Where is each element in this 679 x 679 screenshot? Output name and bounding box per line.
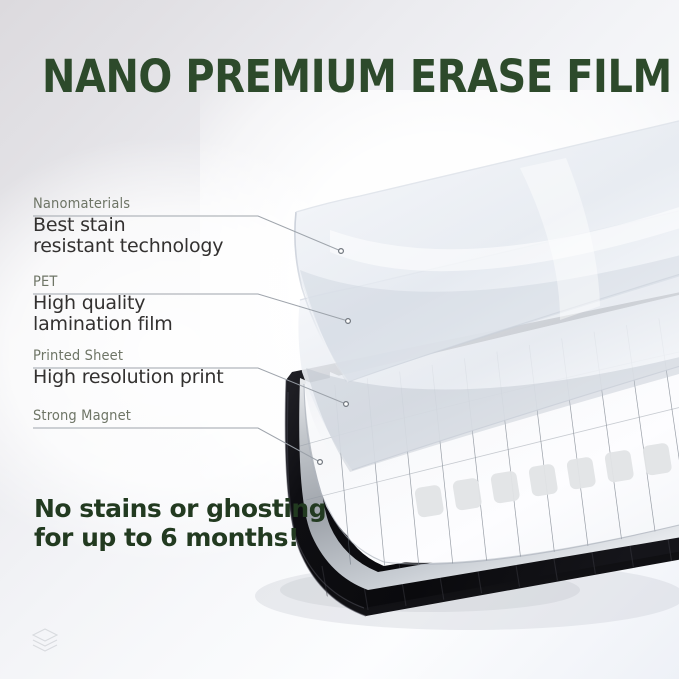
callout-leader-dots — [318, 249, 351, 465]
printed-sheet-checkbox-row — [414, 435, 679, 518]
printed-sheet-shade — [304, 290, 679, 452]
callout-strong-magnet: Strong Magnet — [33, 408, 131, 425]
frame-highlight-strip — [329, 372, 679, 566]
printed-sheet-grid — [300, 250, 679, 582]
magnet-top-face — [285, 288, 679, 608]
callout-pet: PET High quality lamination film — [33, 274, 173, 335]
callout-label-strong-magnet: Strong Magnet — [33, 408, 131, 425]
magnet-edge — [287, 392, 679, 616]
tagline: No stains or ghosting for up to 6 months… — [34, 494, 326, 553]
callout-nanomaterials: Nanomaterials Best stain resistant techn… — [33, 196, 223, 257]
callout-label-pet: PET — [33, 274, 173, 291]
pet-lamination-film — [298, 206, 679, 470]
printed-sheet — [304, 290, 679, 563]
stacked-layers-logo — [30, 626, 60, 654]
callout-description-printed-sheet: High resolution print — [33, 367, 224, 388]
page-title: NANO PREMIUM ERASE FILM — [42, 50, 643, 103]
background-glow — [200, 90, 679, 560]
product-infographic: NANO PREMIUM ERASE FILM Nanomaterials Be… — [0, 0, 679, 679]
inner-frame-bar — [299, 378, 679, 590]
nano-film-sheen — [300, 250, 679, 382]
callout-description-nanomaterials: Best stain resistant technology — [33, 215, 223, 258]
callout-label-nanomaterials: Nanomaterials — [33, 196, 223, 213]
callout-label-printed-sheet: Printed Sheet — [33, 348, 224, 365]
pet-film-shadow — [306, 352, 679, 472]
nano-top-film — [295, 116, 679, 382]
frame-left-bar — [343, 376, 378, 552]
callout-printed-sheet: Printed Sheet High resolution print — [33, 348, 224, 388]
callout-description-pet: High quality lamination film — [33, 293, 173, 336]
